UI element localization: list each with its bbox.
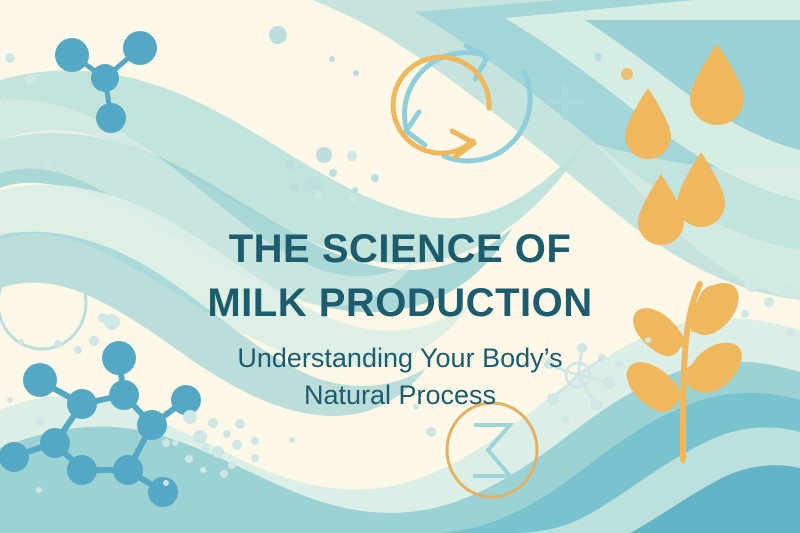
dots-upper-right — [269, 26, 633, 194]
poster-canvas: THE SCIENCE OF MILK PRODUCTION Understan… — [0, 0, 800, 533]
dots-right-mid — [413, 278, 794, 437]
dots-lower-center — [36, 410, 295, 493]
decorative-dot-clusters — [0, 0, 800, 533]
dots-upper-left — [1, 53, 52, 169]
dots-center-left — [7, 151, 357, 403]
